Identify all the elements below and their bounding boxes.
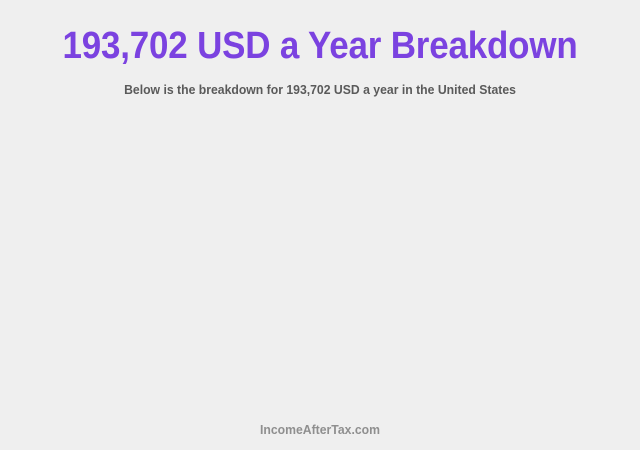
site-watermark: IncomeAfterTax.com [19, 422, 621, 438]
content-area [0, 98, 640, 422]
page-root: 193,702 USD a Year Breakdown Below is th… [0, 0, 640, 450]
page-title: 193,702 USD a Year Breakdown [26, 24, 615, 68]
page-subtitle: Below is the breakdown for 193,702 USD a… [19, 68, 621, 98]
header: 193,702 USD a Year Breakdown Below is th… [0, 0, 640, 98]
footer: IncomeAfterTax.com [0, 422, 640, 450]
